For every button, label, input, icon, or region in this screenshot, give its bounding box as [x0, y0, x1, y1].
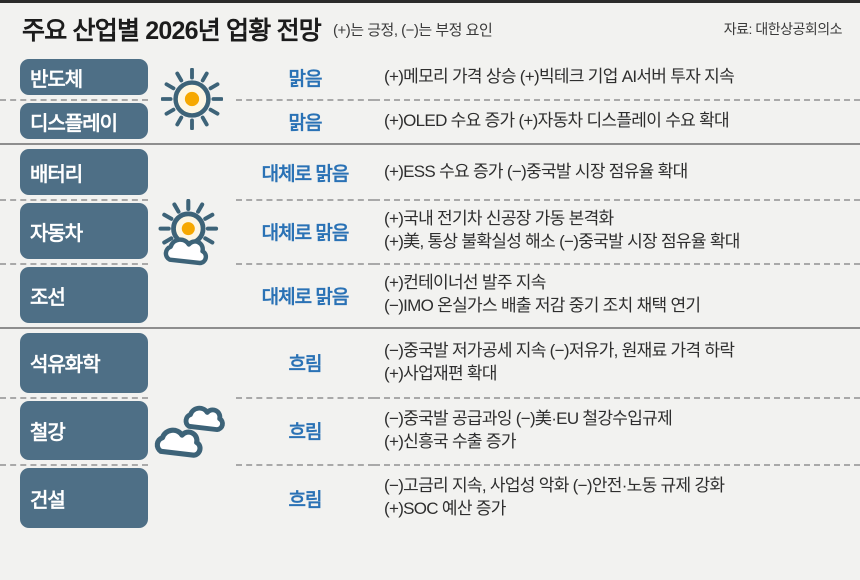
- factor-line: (−)고금리 지속, 사업성 악화 (−)안전·노동 규제 강화: [384, 475, 846, 498]
- outlook-label: 맑음: [289, 108, 322, 135]
- factor-line: (+)SOC 예산 증가: [384, 498, 846, 521]
- icon-column-spacer: [148, 397, 236, 465]
- factor-line: (+)사업재편 확대: [384, 363, 846, 386]
- outlook-label: 흐림: [289, 349, 322, 376]
- table-row: 반도체맑음(+)메모리 가격 상승 (+)빅테크 기업 AI서버 투자 지속: [0, 55, 860, 99]
- source-label: 자료: 대한상공회의소: [724, 19, 842, 39]
- legend-note: (+)는 긍정, (−)는 부정 요인: [333, 19, 492, 40]
- industry-badge-cell: 자동차: [0, 199, 148, 263]
- header: 주요 산업별 2026년 업황 전망 (+)는 긍정, (−)는 부정 요인 자…: [0, 3, 860, 55]
- table-row: 조선대체로 맑음(+)컨테이너선 발주 지속(−)IMO 온실가스 배출 저감 …: [0, 263, 860, 327]
- outlook-cell: 맑음: [236, 55, 374, 99]
- groups-container: 반도체맑음(+)메모리 가격 상승 (+)빅테크 기업 AI서버 투자 지속디스…: [0, 55, 860, 532]
- factors-cell: (−)고금리 지속, 사업성 악화 (−)안전·노동 규제 강화(+)SOC 예…: [374, 464, 860, 532]
- industry-badge-cell: 건설: [0, 464, 148, 532]
- industry-outlook-infographic: 주요 산업별 2026년 업황 전망 (+)는 긍정, (−)는 부정 요인 자…: [0, 0, 860, 580]
- table-row: 철강흐림(−)중국발 공급과잉 (−)美·EU 철강수입규제(+)신흥국 수출 …: [0, 397, 860, 465]
- outlook-label: 맑음: [289, 64, 322, 91]
- table-row: 건설흐림(−)고금리 지속, 사업성 악화 (−)안전·노동 규제 강화(+)S…: [0, 464, 860, 532]
- outlook-cell: 흐림: [236, 329, 374, 397]
- factors-cell: (+)메모리 가격 상승 (+)빅테크 기업 AI서버 투자 지속: [374, 55, 860, 99]
- industry-badge[interactable]: 배터리: [20, 149, 148, 195]
- outlook-label: 흐림: [289, 417, 322, 444]
- industry-badge-cell: 디스플레이: [0, 99, 148, 143]
- outlook-cell: 대체로 맑음: [236, 145, 374, 199]
- industry-badge-cell: 석유화학: [0, 329, 148, 397]
- outlook-cell: 흐림: [236, 397, 374, 465]
- factor-line: (−)중국발 저가공세 지속 (−)저유가, 원재료 가격 하락: [384, 340, 846, 363]
- industry-badge[interactable]: 철강: [20, 401, 148, 461]
- outlook-cell: 대체로 맑음: [236, 263, 374, 327]
- table-row: 디스플레이맑음(+)OLED 수요 증가 (+)자동차 디스플레이 수요 확대: [0, 99, 860, 143]
- factors-cell: (−)중국발 저가공세 지속 (−)저유가, 원재료 가격 하락(+)사업재편 …: [374, 329, 860, 397]
- industry-badge[interactable]: 조선: [20, 267, 148, 323]
- industry-badge-cell: 철강: [0, 397, 148, 465]
- outlook-label: 대체로 맑음: [262, 159, 349, 186]
- outlook-group-partly-cloudy: 배터리대체로 맑음(+)ESS 수요 증가 (−)중국발 시장 점유율 확대자동…: [0, 143, 860, 327]
- industry-badge[interactable]: 자동차: [20, 203, 148, 259]
- factor-line: (+)ESS 수요 증가 (−)중국발 시장 점유율 확대: [384, 161, 846, 184]
- table-row: 자동차대체로 맑음(+)국내 전기차 신공장 가동 본격화(+)美, 통상 불확…: [0, 199, 860, 263]
- factor-line: (−)IMO 온실가스 배출 저감 중기 조치 채택 연기: [384, 295, 846, 318]
- industry-badge[interactable]: 석유화학: [20, 333, 148, 393]
- outlook-label: 대체로 맑음: [262, 218, 349, 245]
- factor-line: (+)메모리 가격 상승 (+)빅테크 기업 AI서버 투자 지속: [384, 66, 846, 89]
- industry-badge-cell: 반도체: [0, 55, 148, 99]
- table-row: 석유화학흐림(−)중국발 저가공세 지속 (−)저유가, 원재료 가격 하락(+…: [0, 329, 860, 397]
- factor-line: (+)컨테이너선 발주 지속: [384, 272, 846, 295]
- table-row: 배터리대체로 맑음(+)ESS 수요 증가 (−)중국발 시장 점유율 확대: [0, 145, 860, 199]
- factor-line: (+)국내 전기차 신공장 가동 본격화: [384, 208, 846, 231]
- icon-column-spacer: [148, 145, 236, 199]
- industry-badge[interactable]: 건설: [20, 468, 148, 528]
- outlook-cell: 맑음: [236, 99, 374, 143]
- industry-badge-cell: 배터리: [0, 145, 148, 199]
- factor-line: (+)美, 통상 불확실성 해소 (−)중국발 시장 점유율 확대: [384, 231, 846, 254]
- factor-line: (+)신흥국 수출 증가: [384, 431, 846, 454]
- factors-cell: (+)국내 전기차 신공장 가동 본격화(+)美, 통상 불확실성 해소 (−)…: [374, 199, 860, 263]
- icon-column-spacer: [148, 55, 236, 99]
- factors-cell: (+)컨테이너선 발주 지속(−)IMO 온실가스 배출 저감 중기 조치 채택…: [374, 263, 860, 327]
- icon-column-spacer: [148, 199, 236, 263]
- icon-column-spacer: [148, 263, 236, 327]
- outlook-group-cloudy: 석유화학흐림(−)중국발 저가공세 지속 (−)저유가, 원재료 가격 하락(+…: [0, 327, 860, 532]
- industry-badge-cell: 조선: [0, 263, 148, 327]
- outlook-cell: 흐림: [236, 464, 374, 532]
- icon-column-spacer: [148, 329, 236, 397]
- outlook-group-sun: 반도체맑음(+)메모리 가격 상승 (+)빅테크 기업 AI서버 투자 지속디스…: [0, 55, 860, 143]
- factors-cell: (−)중국발 공급과잉 (−)美·EU 철강수입규제(+)신흥국 수출 증가: [374, 397, 860, 465]
- factor-line: (+)OLED 수요 증가 (+)자동차 디스플레이 수요 확대: [384, 110, 846, 133]
- industry-badge[interactable]: 반도체: [20, 59, 148, 95]
- outlook-cell: 대체로 맑음: [236, 199, 374, 263]
- outlook-label: 대체로 맑음: [262, 282, 349, 309]
- icon-column-spacer: [148, 464, 236, 532]
- factors-cell: (+)OLED 수요 증가 (+)자동차 디스플레이 수요 확대: [374, 99, 860, 143]
- icon-column-spacer: [148, 99, 236, 143]
- industry-badge[interactable]: 디스플레이: [20, 103, 148, 139]
- outlook-label: 흐림: [289, 485, 322, 512]
- factor-line: (−)중국발 공급과잉 (−)美·EU 철강수입규제: [384, 408, 846, 431]
- factors-cell: (+)ESS 수요 증가 (−)중국발 시장 점유율 확대: [374, 145, 860, 199]
- page-title: 주요 산업별 2026년 업황 전망: [22, 11, 321, 47]
